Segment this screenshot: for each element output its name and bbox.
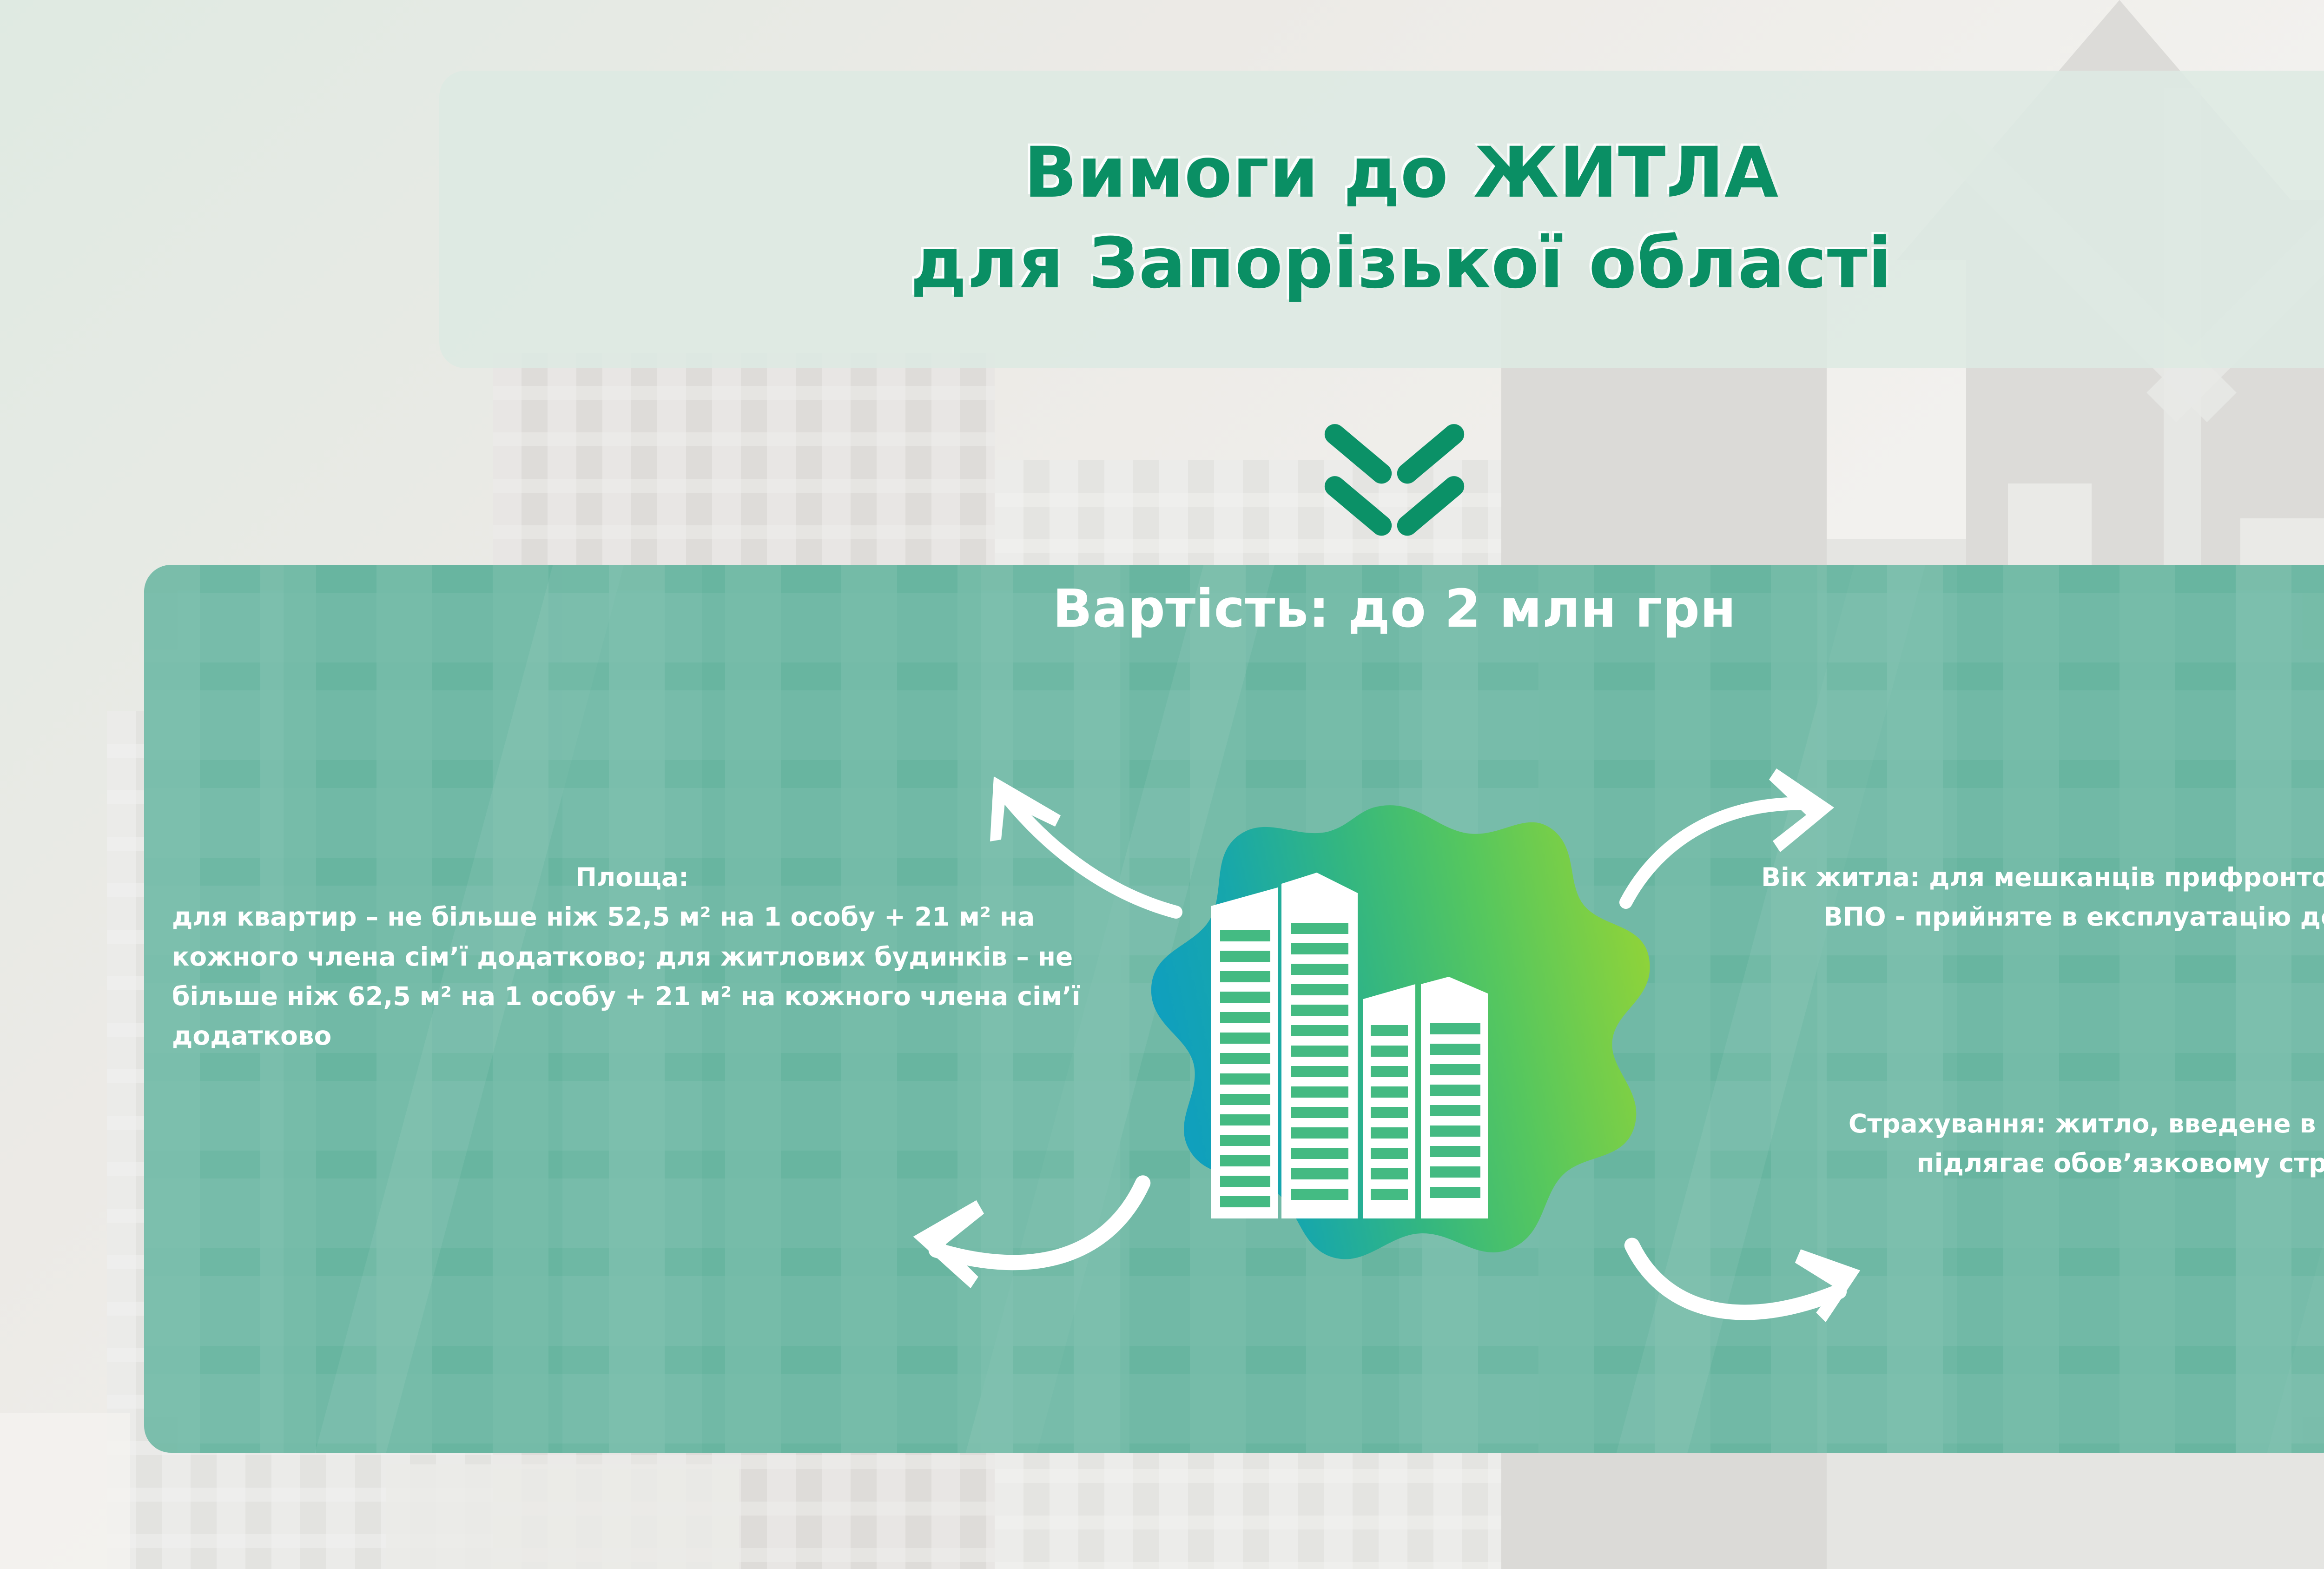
chevron-down-icon (1327, 409, 1462, 516)
title-line-2: для Запорізької області (911, 221, 1892, 306)
chevron-down-icon-stroke-2 (1327, 461, 1462, 512)
infographic-canvas: Вимоги до ЖИТЛА для Запорізької області … (0, 0, 2324, 1569)
background-block-a (0, 1413, 130, 1569)
curved-arrow-right-icon (1613, 1199, 1920, 1385)
curved-arrow-up-left-icon (897, 730, 1185, 916)
chevron-down-icon-stroke-1 (1327, 409, 1462, 460)
background-block-b (386, 1464, 739, 1569)
page-title: Вимоги до ЖИТЛА для Запорізької області (439, 74, 2324, 363)
curved-arrow-left-icon (869, 1172, 1195, 1357)
insurance-requirement: Страхування: житло, введене в експлуатац… (1803, 1104, 2324, 1184)
title-line-1: Вимоги до ЖИТЛА (1024, 131, 1779, 216)
panel-heading: Вартість: до 2 млн грн (0, 579, 2324, 639)
buildings-icon (1134, 802, 1659, 1285)
area-requirement-body: для квартир – не більше ніж 52,5 м² на 1… (172, 902, 1081, 1051)
background-window-1 (2008, 483, 2092, 567)
curved-arrow-up-right-icon (1613, 728, 1901, 914)
